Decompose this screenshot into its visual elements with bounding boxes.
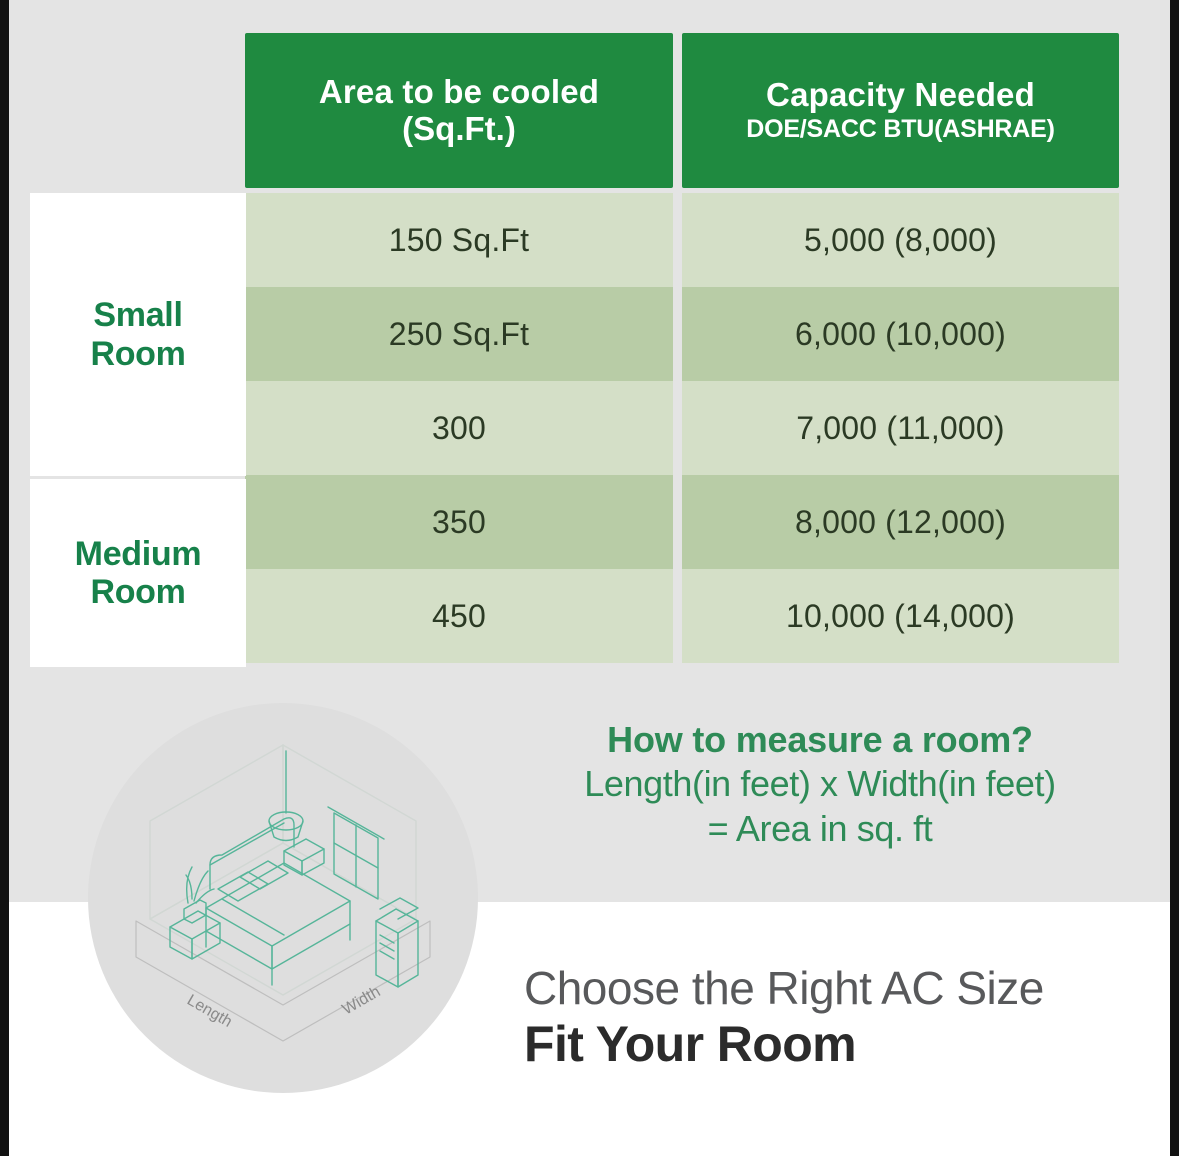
cell-area: 300 (245, 381, 673, 475)
right-edge-bezel (1170, 0, 1179, 1156)
header-area-line1: Area to be cooled (319, 74, 599, 111)
width-label: Width (340, 983, 384, 1018)
bed (206, 818, 350, 985)
label-medium-room-text: Medium Room (75, 535, 202, 611)
length-label: Length (184, 992, 235, 1031)
table-row: 300 7,000 (11,000) (245, 381, 1119, 475)
left-edge-bezel (0, 0, 9, 1156)
label-small-room-line2: Room (90, 335, 185, 373)
header-capacity-line1: Capacity Needed (766, 77, 1035, 114)
label-medium-room-line2: Room (75, 573, 202, 611)
infographic-canvas: Area to be cooled (Sq.Ft.) Capacity Need… (0, 0, 1179, 1156)
table-row: 350 8,000 (12,000) (245, 475, 1119, 569)
cell-area: 250 Sq.Ft (245, 287, 673, 381)
measure-formula-line2: = Area in sq. ft (505, 807, 1135, 852)
room-illustration: Length Width (88, 703, 478, 1093)
label-medium-room-line1: Medium (75, 535, 202, 573)
table-row: 150 Sq.Ft 5,000 (8,000) (245, 193, 1119, 287)
header-cell-capacity: Capacity Needed DOE/SACC BTU(ASHRAE) (682, 33, 1119, 188)
cell-area: 350 (245, 475, 673, 569)
table-row: 250 Sq.Ft 6,000 (10,000) (245, 287, 1119, 381)
window (328, 807, 384, 899)
row-group-label-small-room: Small Room (30, 193, 246, 476)
table-header-row: Area to be cooled (Sq.Ft.) Capacity Need… (245, 33, 1119, 188)
pendant-lamp (269, 751, 303, 841)
cell-area: 450 (245, 569, 673, 663)
bottom-headline: Choose the Right AC Size Fit Your Room (524, 963, 1164, 1074)
headline-line2: Fit Your Room (524, 1015, 1164, 1074)
ac-capacity-table: Area to be cooled (Sq.Ft.) Capacity Need… (245, 33, 1119, 666)
air-conditioner-unit (376, 898, 418, 987)
measure-title: How to measure a room? (505, 718, 1135, 762)
table-body: 150 Sq.Ft 5,000 (8,000) 250 Sq.Ft 6,000 … (245, 193, 1119, 663)
cell-capacity: 6,000 (10,000) (682, 287, 1119, 381)
header-capacity-line2: DOE/SACC BTU(ASHRAE) (746, 114, 1055, 144)
measure-formula-line1: Length(in feet) x Width(in feet) (505, 762, 1135, 807)
cell-capacity: 10,000 (14,000) (682, 569, 1119, 663)
dimension-labels: Length Width (184, 983, 383, 1031)
cell-capacity: 8,000 (12,000) (682, 475, 1119, 569)
isometric-room-drawing: Length Width (88, 703, 478, 1093)
header-cell-area: Area to be cooled (Sq.Ft.) (245, 33, 673, 188)
label-small-room-text: Small Room (90, 296, 185, 372)
label-small-room-line1: Small (90, 296, 185, 334)
cell-capacity: 5,000 (8,000) (682, 193, 1119, 287)
bedside-table (284, 839, 324, 875)
cell-capacity: 7,000 (11,000) (682, 381, 1119, 475)
row-group-label-medium-room: Medium Room (30, 479, 246, 667)
header-area-line2: (Sq.Ft.) (402, 111, 516, 148)
table-row: 450 10,000 (14,000) (245, 569, 1119, 663)
how-to-measure-block: How to measure a room? Length(in feet) x… (505, 718, 1135, 851)
headline-line1: Choose the Right AC Size (524, 963, 1164, 1015)
cell-area: 150 Sq.Ft (245, 193, 673, 287)
